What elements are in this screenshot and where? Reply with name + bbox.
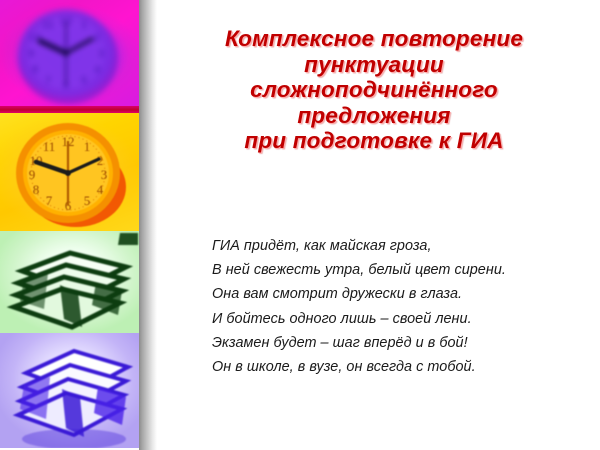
svg-text:1: 1 bbox=[81, 19, 87, 31]
svg-text:7: 7 bbox=[45, 75, 51, 87]
poem-line-1: ГИА придёт, как майская гроза, bbox=[212, 234, 562, 258]
title-line-2: пунктуации bbox=[152, 52, 596, 78]
poem-line-2: В ней свежесть утра, белый цвет сирени. bbox=[212, 258, 562, 282]
title-line-4: предложения bbox=[152, 103, 596, 129]
svg-text:4: 4 bbox=[97, 182, 104, 197]
poem-line-6: Он в школе, в вузе, он всегда с тобой. bbox=[212, 355, 562, 379]
svg-text:8: 8 bbox=[32, 64, 38, 76]
svg-text:5: 5 bbox=[84, 193, 91, 208]
title-line-1: Комплексное повторение bbox=[152, 26, 596, 52]
clock-icon: 1212 345 678 91011 bbox=[0, 0, 140, 106]
presentation-slide: 1212 345 678 91011 bbox=[0, 0, 600, 450]
book-stack-icon bbox=[0, 333, 140, 448]
svg-text:4: 4 bbox=[94, 64, 101, 76]
page-title: Комплексное повторение пунктуации сложно… bbox=[152, 26, 596, 154]
svg-text:2: 2 bbox=[94, 32, 100, 44]
panel-divider-band bbox=[0, 106, 140, 113]
title-line-3: сложноподчинённого bbox=[152, 77, 596, 103]
poem-text: ГИА придёт, как майская гроза, В ней све… bbox=[212, 234, 562, 379]
clock-icon: 1212 345 678 91011 bbox=[0, 113, 140, 231]
svg-text:11: 11 bbox=[42, 19, 54, 31]
svg-text:3: 3 bbox=[98, 48, 104, 60]
strip-panel-books-violet bbox=[0, 333, 140, 448]
poem-line-5: Экзамен будет – шаг вперёд и в бой! bbox=[212, 331, 562, 355]
svg-text:1: 1 bbox=[84, 139, 91, 154]
svg-text:7: 7 bbox=[46, 193, 53, 208]
poem-line-3: Она вам смотрит дружески в глаза. bbox=[212, 282, 562, 306]
svg-text:9: 9 bbox=[28, 48, 34, 60]
poem-line-4: И бойтесь одного лишь – своей лени. bbox=[212, 307, 562, 331]
decorative-image-strip: 1212 345 678 91011 bbox=[0, 0, 140, 450]
strip-panel-clock-magenta: 1212 345 678 91011 bbox=[0, 0, 140, 106]
svg-text:11: 11 bbox=[43, 139, 56, 154]
strip-panel-clock-yellow: 1212 345 678 91011 bbox=[0, 113, 140, 231]
title-line-5: при подготовке к ГИА bbox=[152, 128, 596, 154]
svg-text:9: 9 bbox=[29, 167, 36, 182]
book-stack-icon bbox=[0, 231, 140, 333]
svg-text:3: 3 bbox=[101, 167, 108, 182]
strip-panel-books-green bbox=[0, 231, 140, 333]
svg-text:5: 5 bbox=[81, 75, 87, 87]
svg-text:8: 8 bbox=[33, 182, 40, 197]
